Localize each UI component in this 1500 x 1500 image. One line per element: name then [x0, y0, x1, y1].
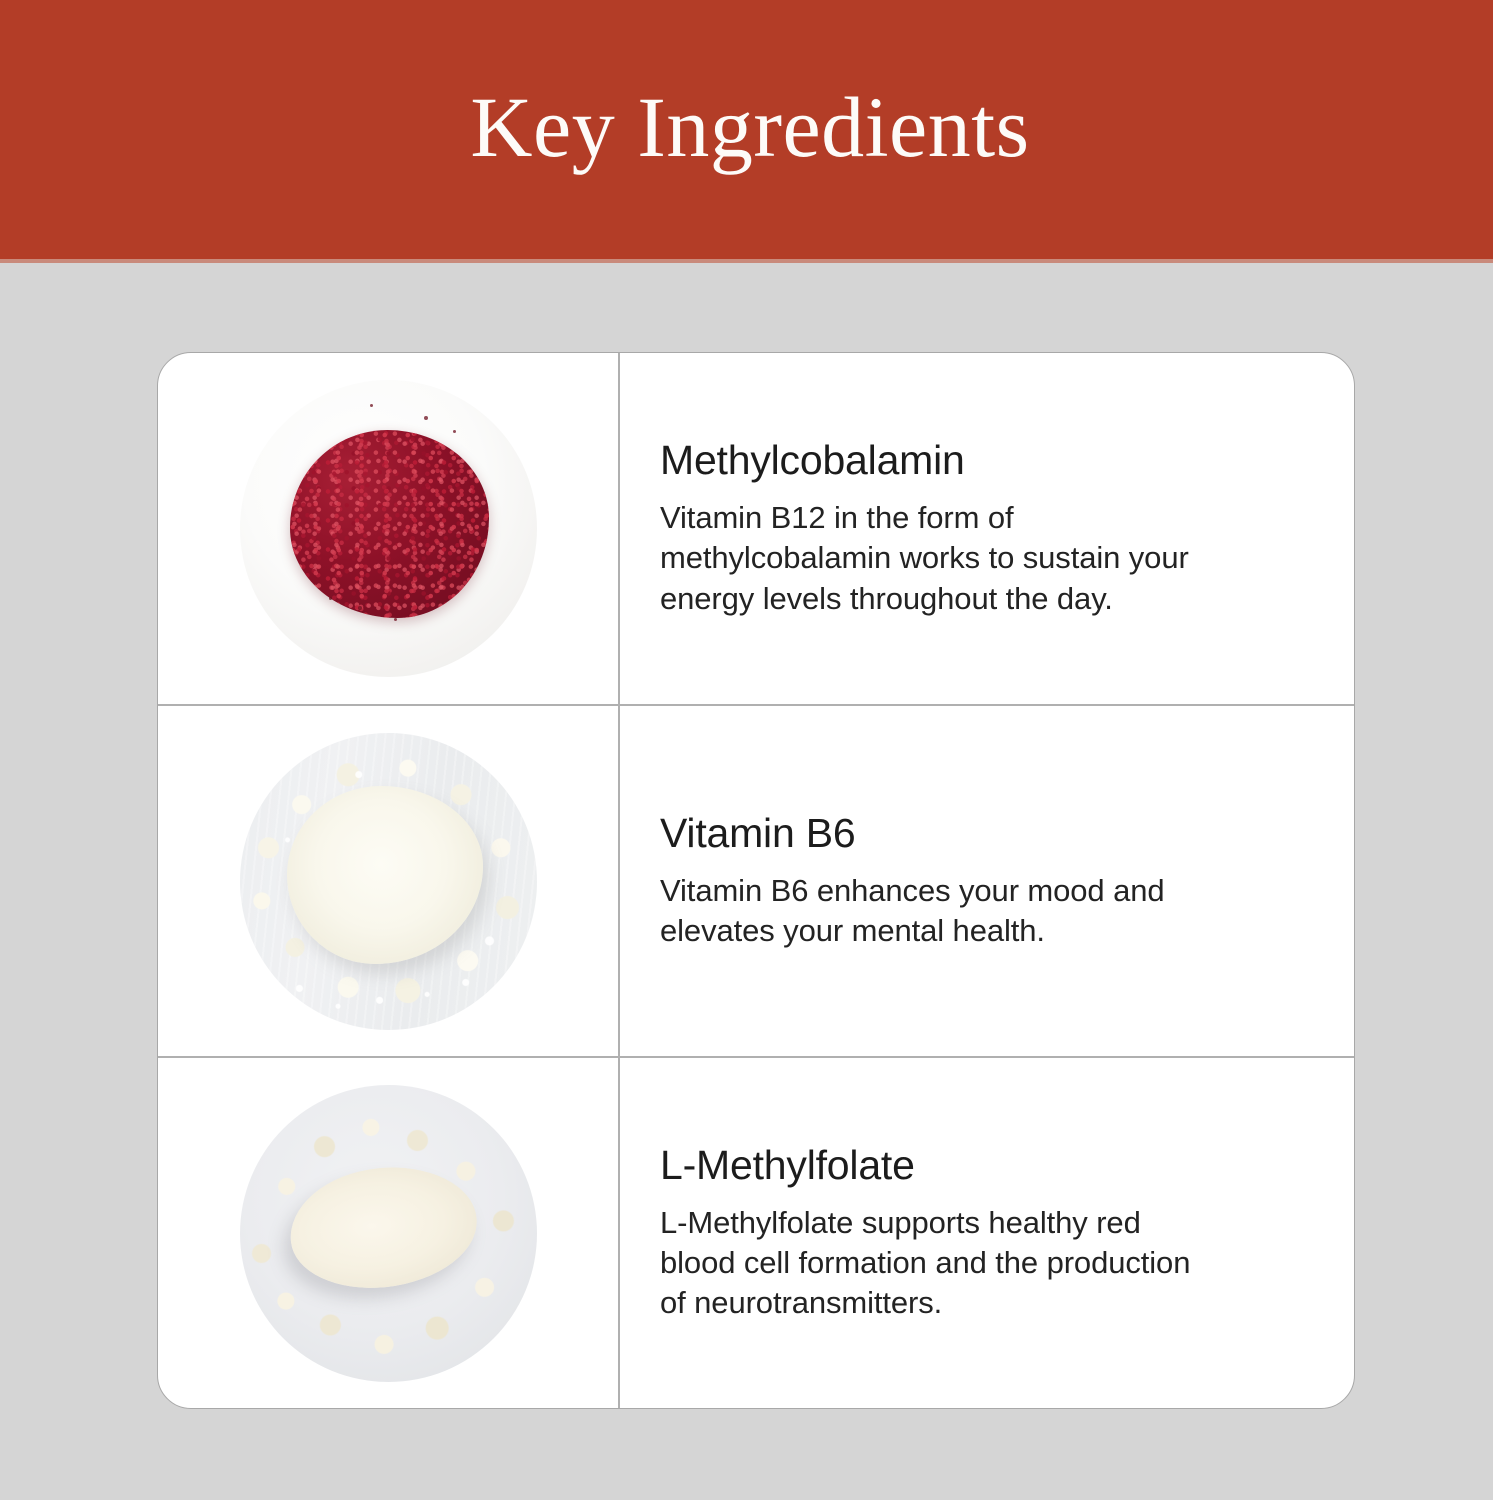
white-powder-photo	[240, 733, 537, 1030]
beige-powder-photo	[240, 1085, 537, 1382]
page-header-banner: Key Ingredients	[0, 0, 1500, 259]
ingredient-description: Vitamin B12 in the form of methylcobalam…	[660, 498, 1290, 619]
ingredient-row: Methylcobalamin Vitamin B12 in the form …	[158, 353, 1354, 704]
ingredient-image-cell	[158, 706, 620, 1056]
page-root: Key Ingredients Meth	[0, 0, 1500, 1500]
ingredient-title: Vitamin B6	[660, 811, 1314, 857]
powder-speck	[370, 404, 373, 407]
ingredient-row: L-Methylfolate L-Methylfolate supports h…	[158, 1056, 1354, 1408]
ingredient-row: Vitamin B6 Vitamin B6 enhances your mood…	[158, 704, 1354, 1056]
powder-grain-texture	[290, 430, 489, 617]
powder-speck	[329, 597, 332, 600]
ingredients-card: Methylcobalamin Vitamin B12 in the form …	[157, 352, 1355, 1409]
right-page-margin	[1493, 0, 1500, 1500]
ingredient-title: Methylcobalamin	[660, 438, 1314, 484]
powder-heap-shape	[290, 430, 489, 617]
ingredient-text-cell: L-Methylfolate L-Methylfolate supports h…	[620, 1058, 1354, 1408]
powder-speck	[394, 618, 397, 621]
powder-speck	[453, 430, 456, 433]
ingredient-text-cell: Vitamin B6 Vitamin B6 enhances your mood…	[620, 706, 1354, 1056]
ingredient-description: Vitamin B6 enhances your mood and elevat…	[660, 871, 1290, 952]
ingredient-image-cell	[158, 1058, 620, 1408]
powder-dust-specks	[240, 733, 537, 1030]
banner-underline	[0, 259, 1500, 263]
powder-speck	[436, 600, 440, 604]
ingredient-image-cell	[158, 353, 620, 704]
ingredient-text-cell: Methylcobalamin Vitamin B12 in the form …	[620, 353, 1354, 704]
ingredient-description: L-Methylfolate supports healthy red bloo…	[660, 1203, 1290, 1324]
page-title: Key Ingredients	[470, 84, 1029, 176]
red-powder-photo	[240, 380, 537, 677]
powder-speck	[424, 416, 428, 420]
ingredient-title: L-Methylfolate	[660, 1143, 1314, 1189]
